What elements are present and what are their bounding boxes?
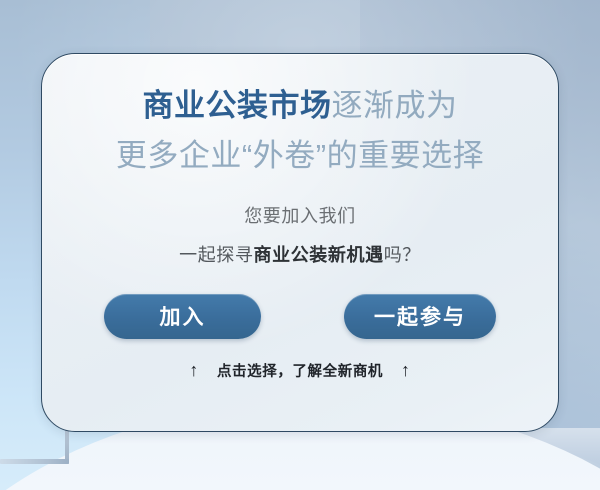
headline-strong: 商业公装市场: [143, 88, 332, 123]
arrow-up-left-icon: ↑: [189, 361, 199, 379]
join-button[interactable]: 加入: [104, 294, 261, 339]
subhead-prefix: 一起探寻: [179, 245, 253, 265]
cta-caption-text: 点击选择，了解全新商机: [217, 360, 383, 381]
card-content: 商业公装市场逐渐成为 更多企业“外卷”的重要选择 您要加入我们 一起探寻商业公装…: [42, 54, 558, 431]
participate-button[interactable]: 一起参与: [344, 294, 496, 339]
promo-card: 商业公装市场逐渐成为 更多企业“外卷”的重要选择 您要加入我们 一起探寻商业公装…: [41, 53, 559, 432]
headline-line-2: 更多企业“外卷”的重要选择: [42, 136, 558, 177]
headline-soft: 逐渐成为: [332, 88, 458, 123]
subhead-line-2: 一起探寻商业公装新机遇吗？: [42, 228, 558, 267]
headline: 商业公装市场逐渐成为 更多企业“外卷”的重要选择: [42, 54, 558, 177]
poster-stage: 商业公装市场逐渐成为 更多企业“外卷”的重要选择 您要加入我们 一起探寻商业公装…: [0, 0, 600, 490]
subhead-line-1: 您要加入我们: [42, 177, 558, 228]
cta-caption: ↑ 点击选择，了解全新商机 ↑: [42, 339, 558, 381]
subhead-suffix: 吗？: [384, 245, 421, 265]
cta-button-row: 加入 一起参与: [42, 294, 558, 339]
decorative-bracket-horizontal: [0, 459, 69, 464]
arrow-up-right-icon: ↑: [401, 361, 411, 379]
subhead-strong: 商业公装新机遇: [254, 245, 384, 265]
